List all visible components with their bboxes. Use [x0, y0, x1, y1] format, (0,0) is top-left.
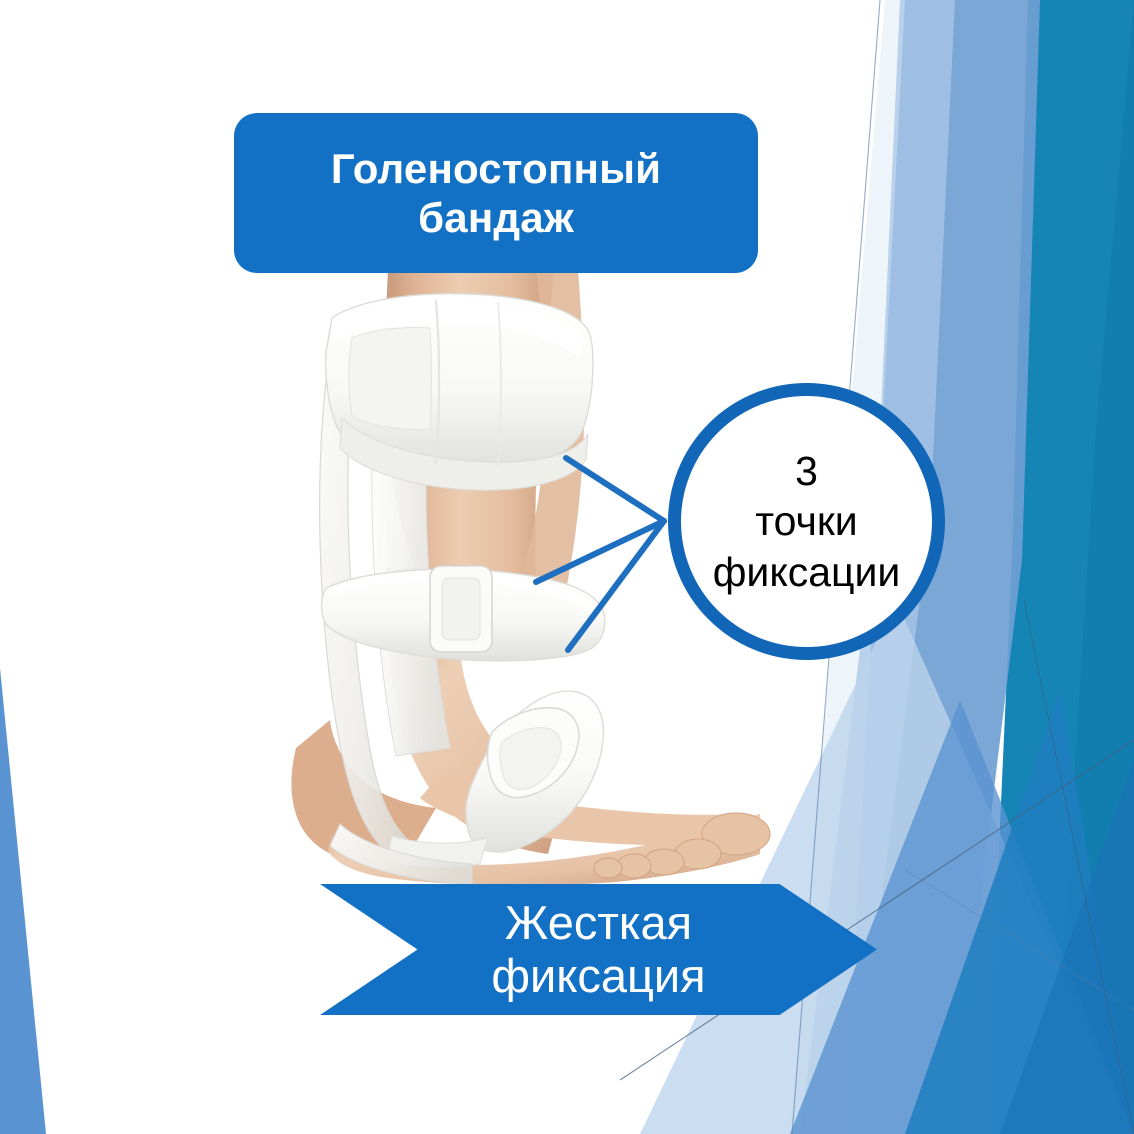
deco-bottom-dark-accent [1000, 760, 1134, 1134]
fixation-points-callout: 3 точки фиксации [668, 383, 945, 660]
deco-hairline-4 [905, 870, 1134, 1010]
deco-teal-column-2 [1052, 0, 1134, 1134]
deco-hairline-3 [1024, 600, 1134, 1134]
toe-5 [594, 858, 622, 878]
deco-teal-column [986, 0, 1134, 1134]
rigid-fixation-banner: Жесткая фиксация [320, 884, 877, 1015]
infographic-canvas: Голеностопный бандаж 3 точки фиксации Же… [0, 0, 1134, 1134]
deco-bottom-deep-triangle [905, 690, 1134, 1134]
title-banner: Голеностопный бандаж [234, 113, 758, 273]
deco-left-wedge [0, 668, 46, 1134]
strap-calf [326, 294, 593, 490]
fixation-points-text: 3 точки фиксации [713, 446, 901, 596]
title-banner-text: Голеностопный бандаж [331, 144, 661, 242]
rigid-fixation-text: Жесткая фиксация [398, 884, 799, 1015]
